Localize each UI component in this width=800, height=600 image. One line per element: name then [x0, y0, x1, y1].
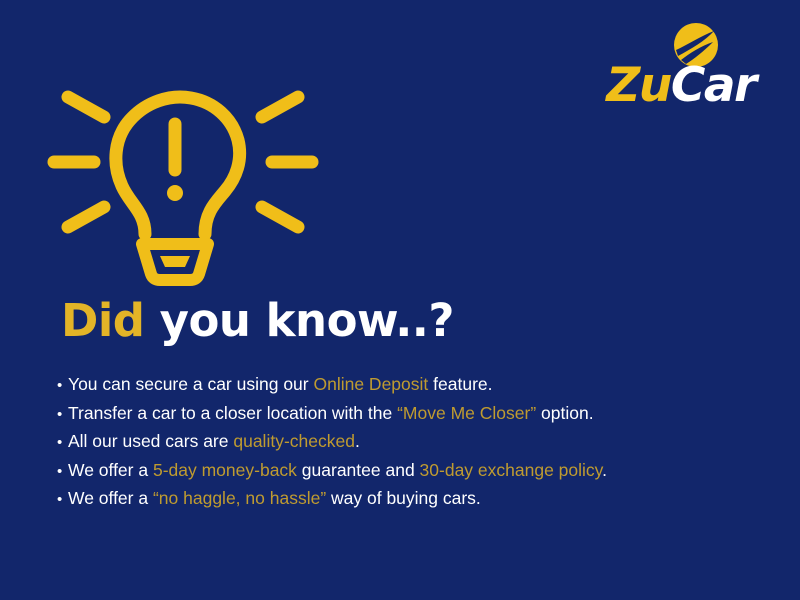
feature-bullet-list: •You can secure a car using our Online D… [57, 376, 757, 519]
zucar-wordmark: ZuCar [596, 62, 766, 109]
list-item: •You can secure a car using our Online D… [57, 376, 757, 394]
brand-wordmark-second: Car [671, 58, 756, 113]
body-text: You can secure a car using our [68, 374, 313, 394]
lightbulb-exclamation-icon [42, 62, 324, 292]
highlight-text: “Move Me Closer” [397, 403, 536, 423]
bullet-dot-icon: • [57, 492, 68, 507]
list-item: •Transfer a car to a closer location wit… [57, 405, 757, 423]
body-text: We offer a [68, 488, 153, 508]
highlight-text: quality-checked [233, 431, 355, 451]
ray-upper-left [68, 97, 104, 117]
body-text: We offer a [68, 460, 153, 480]
page-title-accent: Did [61, 294, 145, 347]
exclamation-dot [167, 185, 183, 201]
body-text: guarantee and [297, 460, 420, 480]
body-text: way of buying cars. [326, 488, 481, 508]
highlight-text: Online Deposit [313, 374, 428, 394]
ray-lower-right [262, 207, 298, 227]
body-text: option. [536, 403, 593, 423]
list-item: •All our used cars are quality-checked. [57, 433, 757, 451]
page-title-rest: you know..? [145, 294, 454, 347]
body-text: All our used cars are [68, 431, 233, 451]
bullet-dot-icon: • [57, 435, 68, 450]
promo-slide: ZuCar Did you know..? •You can secure a … [0, 0, 800, 600]
bullet-dot-icon: • [57, 378, 68, 393]
list-item-text: You can secure a car using our Online De… [68, 376, 493, 394]
list-item-text: We offer a 5-day money-back guarantee an… [68, 462, 607, 480]
ray-lower-left [68, 207, 104, 227]
body-text: . [602, 460, 607, 480]
bullet-dot-icon: • [57, 407, 68, 422]
list-item-text: Transfer a car to a closer location with… [68, 405, 594, 423]
body-text: . [355, 431, 360, 451]
list-item-text: All our used cars are quality-checked. [68, 433, 360, 451]
ray-upper-right [262, 97, 298, 117]
list-item: •We offer a 5-day money-back guarantee a… [57, 462, 757, 480]
highlight-text: 30-day exchange policy [420, 460, 603, 480]
highlight-text: 5-day money-back [153, 460, 297, 480]
highlight-text: “no haggle, no hassle” [153, 488, 326, 508]
bulb-base-slot [160, 256, 190, 267]
bullet-dot-icon: • [57, 464, 68, 479]
zucar-logo[interactable]: ZuCar [596, 22, 766, 122]
body-text: Transfer a car to a closer location with… [68, 403, 397, 423]
brand-wordmark-first: Zu [606, 58, 671, 113]
list-item: •We offer a “no haggle, no hassle” way o… [57, 490, 757, 508]
list-item-text: We offer a “no haggle, no hassle” way of… [68, 490, 481, 508]
body-text: feature. [428, 374, 492, 394]
page-title: Did you know..? [61, 296, 454, 346]
lightbulb-svg [42, 62, 324, 292]
